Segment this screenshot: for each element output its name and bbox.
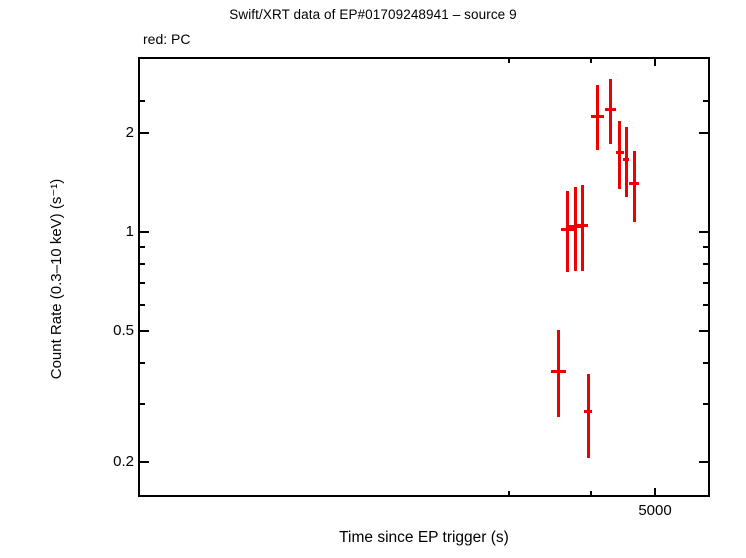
error-bar-vertical — [557, 330, 560, 417]
error-bar-vertical — [574, 187, 577, 271]
error-bar-vertical — [609, 79, 612, 144]
error-bar-horizontal — [561, 228, 575, 231]
error-bar-horizontal — [605, 108, 616, 111]
error-bar-horizontal — [629, 182, 639, 185]
data-layer — [138, 57, 710, 497]
error-bar-vertical — [566, 191, 569, 272]
error-bar-vertical — [587, 374, 590, 458]
error-bar-vertical — [596, 85, 599, 150]
x-axis-title: Time since EP trigger (s) — [138, 529, 710, 547]
y-axis-title: Count Rate (0.3–10 keV) (s⁻¹) — [44, 0, 70, 558]
error-bar-vertical — [618, 121, 621, 189]
error-bar-horizontal — [551, 370, 566, 373]
error-bar-horizontal — [591, 115, 603, 118]
error-bar-horizontal — [616, 151, 625, 154]
error-bar-horizontal — [576, 224, 588, 227]
chart-legend-pc: red: PC — [143, 31, 190, 47]
x-tick-label: 5000 — [615, 503, 695, 519]
error-bar-horizontal — [584, 410, 592, 413]
error-bar-vertical — [625, 127, 628, 196]
y-axis-title-wrap: Count Rate (0.3–10 keV) (s⁻¹) — [18, 0, 44, 558]
error-bar-vertical — [633, 151, 636, 222]
error-bar-horizontal — [623, 158, 630, 161]
chart-canvas: Swift/XRT data of EP#01709248941 – sourc… — [0, 0, 746, 558]
error-bar-vertical — [581, 185, 584, 271]
